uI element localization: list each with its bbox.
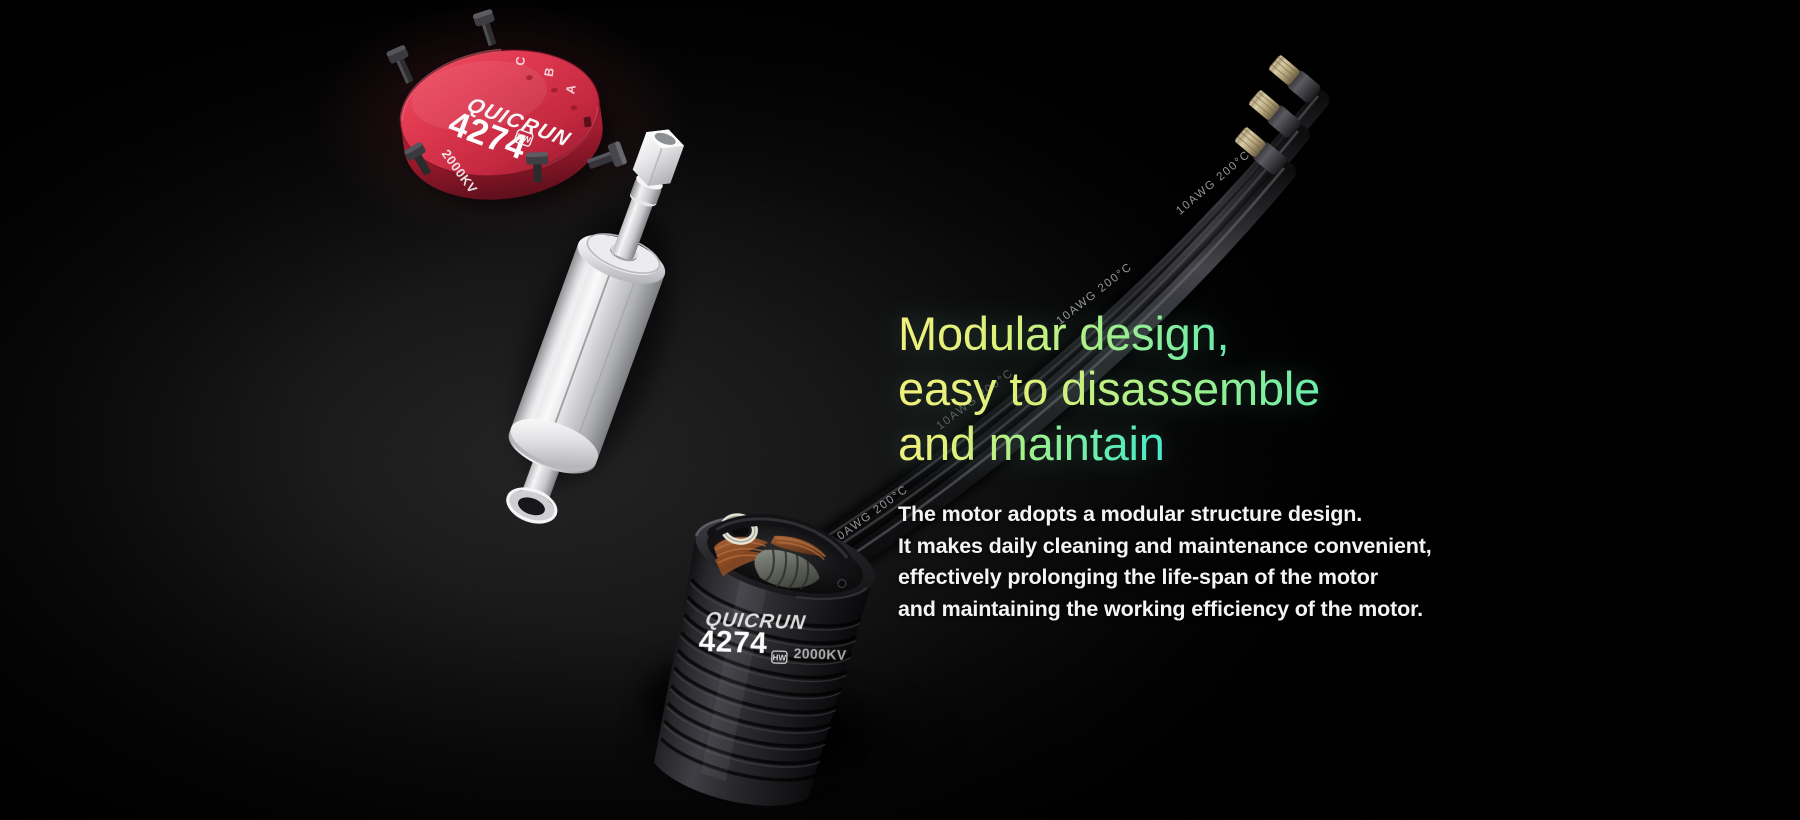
can-kv-text: 2000KV	[793, 645, 847, 663]
copy-block: Modular design, easy to disassemble and …	[898, 306, 1538, 625]
endbell-vent-slot	[583, 116, 591, 127]
headline-line-1: Modular design,	[898, 306, 1538, 361]
body-line-2: It makes daily cleaning and maintenance …	[898, 531, 1538, 563]
body-line-1: The motor adopts a modular structure des…	[898, 499, 1538, 531]
headline-line-3: and maintain	[898, 416, 1538, 471]
can-badge: HW	[772, 651, 787, 664]
svg-text:HW: HW	[773, 653, 787, 662]
body-copy: The motor adopts a modular structure des…	[898, 499, 1538, 625]
can-model-text: 4274	[698, 625, 768, 660]
headline: Modular design, easy to disassemble and …	[898, 306, 1538, 471]
bullet-connector-3	[1267, 53, 1323, 105]
body-line-3: effectively prolonging the life-span of …	[898, 562, 1538, 594]
headline-line-2: easy to disassemble	[898, 361, 1538, 416]
body-line-4: and maintaining the working efficiency o…	[898, 594, 1538, 626]
product-hero-banner: 10AWG 200°C 10AWG 200°C 10AWG 200°C 10AW…	[0, 0, 1800, 820]
